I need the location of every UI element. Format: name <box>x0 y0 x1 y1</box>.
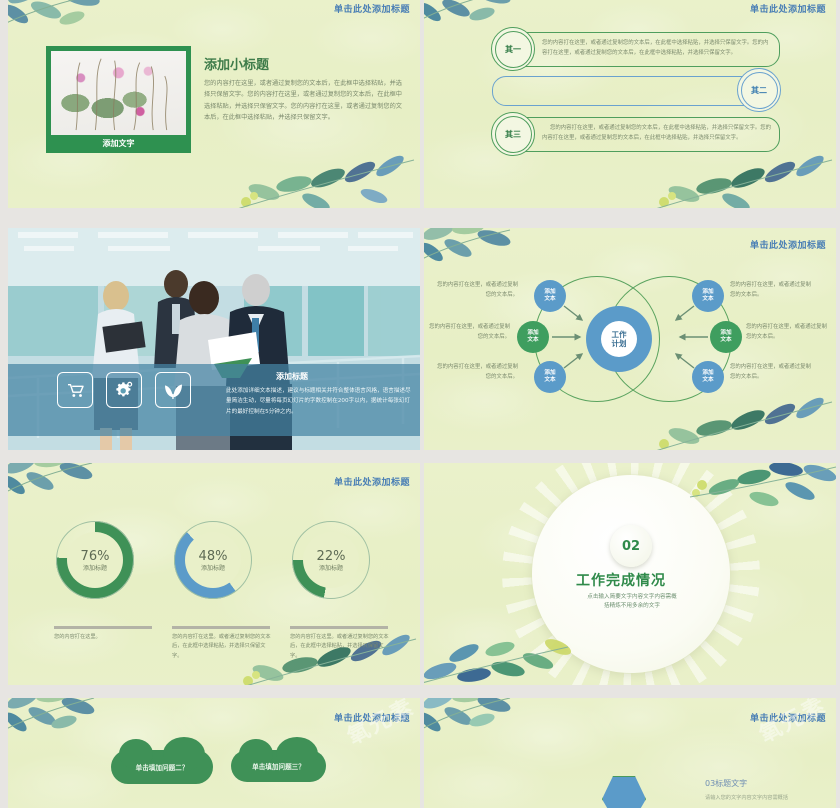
section-number: 02 <box>622 539 640 554</box>
question-cloud-3[interactable]: 单击填加问题三？ <box>231 750 326 782</box>
donut-desc-1: 您的内容打在这里。 <box>54 633 154 642</box>
divider-rule-3 <box>290 626 388 629</box>
cloud-label: 单击填加问题二？ <box>136 762 189 772</box>
section-subtitle-line-1: 点击输入简要文字内容文字内容需概 <box>549 593 715 602</box>
slide-title: 单击此处添加标题 <box>750 2 826 15</box>
slide-title: 单击此处添加标题 <box>334 475 410 488</box>
slide-6[interactable]: 02 工作完成情况 点击输入简要文字内容文字内容需概 括精炼不用多余的文字 <box>424 463 836 685</box>
cloud-label: 单击填加问题三？ <box>252 761 305 771</box>
divider-rule-1 <box>54 626 152 629</box>
leaves-decoration-icon <box>224 144 420 208</box>
text-left-1: 您的内容打在这里，或者通过复制您的文本后。 <box>436 280 518 301</box>
content-row-2-bar[interactable] <box>492 76 772 106</box>
slide-3[interactable]: 添加标题 此处添加详细文本描述，建议与标题相关并符合整体语言风格，语言描述尽量简… <box>8 228 420 450</box>
content-row-3-text: 您的内容打在这里，或者通过复制您的文本后，在此框中选择粘贴，并选择只保留文字。您… <box>542 123 772 144</box>
divider-rule-2 <box>172 626 270 629</box>
slide-2[interactable]: 单击此处添加标题 其一 您的内容打在这里，或者通过复制您的文本后，在此框中选择粘… <box>424 0 836 208</box>
badge-two[interactable]: 其二 <box>737 68 781 112</box>
text-left-3: 您的内容打在这里，或者通过复制您的文本后。 <box>436 362 518 383</box>
slide-1[interactable]: 单击此处添加标题 添加文字 添加小标题 您的内容打在这里，或者通过复制您的文本后… <box>8 0 420 208</box>
leaves-decoration-icon <box>640 144 836 208</box>
badge-label: 其二 <box>751 85 767 96</box>
leaves-decoration-icon <box>424 613 628 685</box>
donut-value: 76% <box>81 549 110 564</box>
slide-8[interactable]: 单击此处添加标题 03标题文字 请输入您的文字内容文字内容需概括 氧元素 <box>424 698 836 808</box>
leaves-decoration-icon <box>424 698 583 750</box>
overlay-body: 此处添加详细文本描述，建议与标题相关并符合整体语言风格，语言描述尽量简洁生动，尽… <box>226 386 411 417</box>
question-cloud-2[interactable]: 单击填加问题二？ <box>111 750 213 784</box>
donut-chart-1[interactable]: 76% 添加标题 <box>56 521 134 599</box>
donut-label: 添加标题 <box>83 563 107 572</box>
badge-three[interactable]: 其三 <box>491 112 535 156</box>
image-caption: 添加文字 <box>51 135 186 153</box>
gear-icon[interactable] <box>106 372 142 408</box>
leaf-glyph <box>164 382 183 399</box>
gear-glyph <box>115 381 133 399</box>
text-right-1: 您的内容打在这里，或者通过复制您的文本后。 <box>730 280 812 301</box>
leaves-decoration-icon <box>8 0 182 50</box>
content-heading: 03标题文字 <box>705 778 747 789</box>
content-body: 请输入您的文字内容文字内容需概括 <box>705 794 815 803</box>
watermark: 氧元素 <box>341 698 420 751</box>
stems-graphic <box>51 51 186 132</box>
slide-title: 单击此处添加标题 <box>334 2 410 15</box>
cart-glyph <box>67 383 84 398</box>
section-subtitle-line-2: 括精炼不用多余的文字 <box>549 602 715 611</box>
badge-label: 其一 <box>505 44 521 55</box>
slide-title: 单击此处添加标题 <box>334 711 410 724</box>
donut-chart-2[interactable]: 48% 添加标题 <box>174 521 252 599</box>
slide-thumbnail-deck: 单击此处添加标题 添加文字 添加小标题 您的内容打在这里，或者通过复制您的文本后… <box>0 0 840 788</box>
text-left-2: 您的内容打在这里，或者通过复制您的文本后。 <box>426 322 510 343</box>
donut-chart-3[interactable]: 22% 添加标题 <box>292 521 370 599</box>
donut-desc-2: 您的内容打在这里。或者通过复制您的文本后，在此框中选择粘贴，并选择只保留文字。 <box>172 633 272 661</box>
badge-one[interactable]: 其一 <box>491 27 535 71</box>
leaves-decoration-icon <box>630 463 836 537</box>
slide-title: 单击此处添加标题 <box>750 711 826 724</box>
overlay-heading: 添加标题 <box>276 371 308 382</box>
slide-4[interactable]: 单击此处添加标题 工作 计划 添加 文本 添加 文本 添加 文本 添加 文本 <box>424 228 836 450</box>
donut-value: 48% <box>199 549 228 564</box>
badge-label: 其三 <box>505 129 521 140</box>
section-heading: 工作完成情况 <box>576 570 666 590</box>
donut-desc-3: 您的内容打在这里。或者通过复制您的文本后，在此框中选择粘贴，并选择只保留文字。 <box>290 633 390 661</box>
donut-label: 添加标题 <box>201 563 225 572</box>
donut-label: 添加标题 <box>319 563 343 572</box>
hexagon-shape[interactable] <box>602 776 646 808</box>
image-card[interactable]: 添加文字 <box>46 46 191 153</box>
leaves-decoration-icon <box>8 463 167 515</box>
leaf-icon[interactable] <box>155 372 191 408</box>
text-right-2: 您的内容打在这里，或者通过复制您的文本后。 <box>746 322 830 343</box>
slide-7[interactable]: 单击此处添加标题 单击填加问题二？ 单击填加问题三？ 氧元素 <box>8 698 420 808</box>
donut-value: 22% <box>317 549 346 564</box>
cart-icon[interactable] <box>57 372 93 408</box>
slide-5[interactable]: 单击此处添加标题 76% 添加标题 您的内容打在这里。 48% 添加标题 您的内… <box>8 463 420 685</box>
section-heading: 添加小标题 <box>204 54 269 73</box>
lotus-watercolor-image <box>51 51 186 135</box>
content-row-1-text: 您的内容打在这里，或者通过复制您的文本后，在此框中选择粘贴，并选择只保留文字。您… <box>542 38 772 59</box>
text-right-3: 您的内容打在这里，或者通过复制您的文本后。 <box>730 362 812 383</box>
body-text: 您的内容打在这里，或者通过复制您的文本后，在此框中选择粘贴，并选择只保留文字。您… <box>204 78 404 124</box>
